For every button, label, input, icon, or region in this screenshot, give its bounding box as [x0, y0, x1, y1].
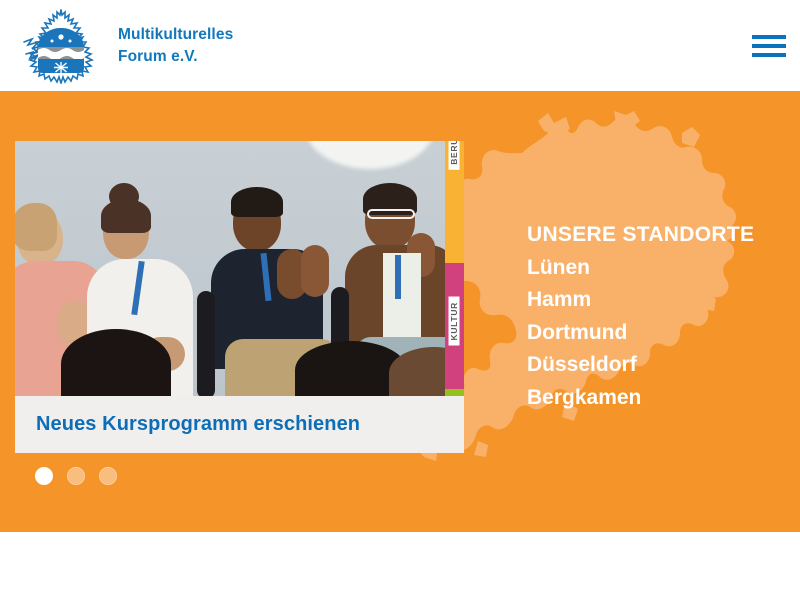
brand-name-line2: Forum e.V. [118, 46, 233, 67]
category-bar-column: BERUF KULTUR [445, 141, 464, 396]
category-bar-beruf: BERUF [445, 141, 464, 263]
slider-card-caption: Neues Kursprogramm erschienen [15, 396, 464, 453]
slider-dot-3[interactable] [99, 467, 117, 485]
location-item-bergkamen: Bergkamen [527, 382, 787, 415]
hamburger-menu-icon[interactable] [752, 33, 786, 59]
category-bar-kultur: KULTUR [445, 263, 464, 389]
photo-foreground-head-1 [61, 329, 171, 396]
photo-person4-glasses [367, 209, 415, 219]
photo-person1-hair [15, 203, 57, 251]
slider-pagination [35, 467, 117, 485]
hamburger-bar-1 [752, 35, 786, 39]
slider-dot-2[interactable] [67, 467, 85, 485]
photo-person2-hair [101, 199, 151, 233]
photo-person3-hair [231, 187, 283, 217]
hero-section: UNSERE STANDORTE Lünen Hamm Dortmund Düs… [0, 91, 800, 532]
photo-person3-hand-right [301, 245, 329, 297]
photo-chair-1 [197, 291, 215, 396]
multikulturelles-forum-diamond-logo-icon [18, 6, 104, 86]
below-hero-section [0, 532, 800, 600]
location-item-luenen: Lünen [527, 252, 787, 285]
brand-name-line1: Multikulturelles [118, 24, 233, 45]
location-item-dortmund: Dortmund [527, 317, 787, 350]
hamburger-bar-2 [752, 44, 786, 48]
hamburger-bar-3 [752, 53, 786, 57]
location-item-duesseldorf: Düsseldorf [527, 349, 787, 382]
brand-logo-link[interactable]: Multikulturelles Forum e.V. [0, 6, 233, 86]
slider-card-title[interactable]: Neues Kursprogramm erschienen [15, 413, 360, 436]
locations-block: UNSERE STANDORTE Lünen Hamm Dortmund Düs… [527, 219, 787, 414]
slider-dot-1[interactable] [35, 467, 53, 485]
locations-heading: UNSERE STANDORTE [527, 219, 787, 252]
category-bar-beruf-label: BERUF [449, 141, 460, 170]
category-bar-kultur-label: KULTUR [449, 297, 460, 346]
page-root: Multikulturelles Forum e.V. [0, 0, 800, 600]
location-item-hamm: Hamm [527, 284, 787, 317]
seminar-audience-applauding-photo: BERUF KULTUR [15, 141, 464, 396]
category-bar-green [445, 389, 464, 396]
photo-person4-lanyard [395, 255, 401, 299]
slider-card[interactable]: BERUF KULTUR Neues Kursprogramm erschien… [15, 141, 464, 453]
site-header: Multikulturelles Forum e.V. [0, 0, 800, 91]
brand-name: Multikulturelles Forum e.V. [118, 24, 233, 67]
